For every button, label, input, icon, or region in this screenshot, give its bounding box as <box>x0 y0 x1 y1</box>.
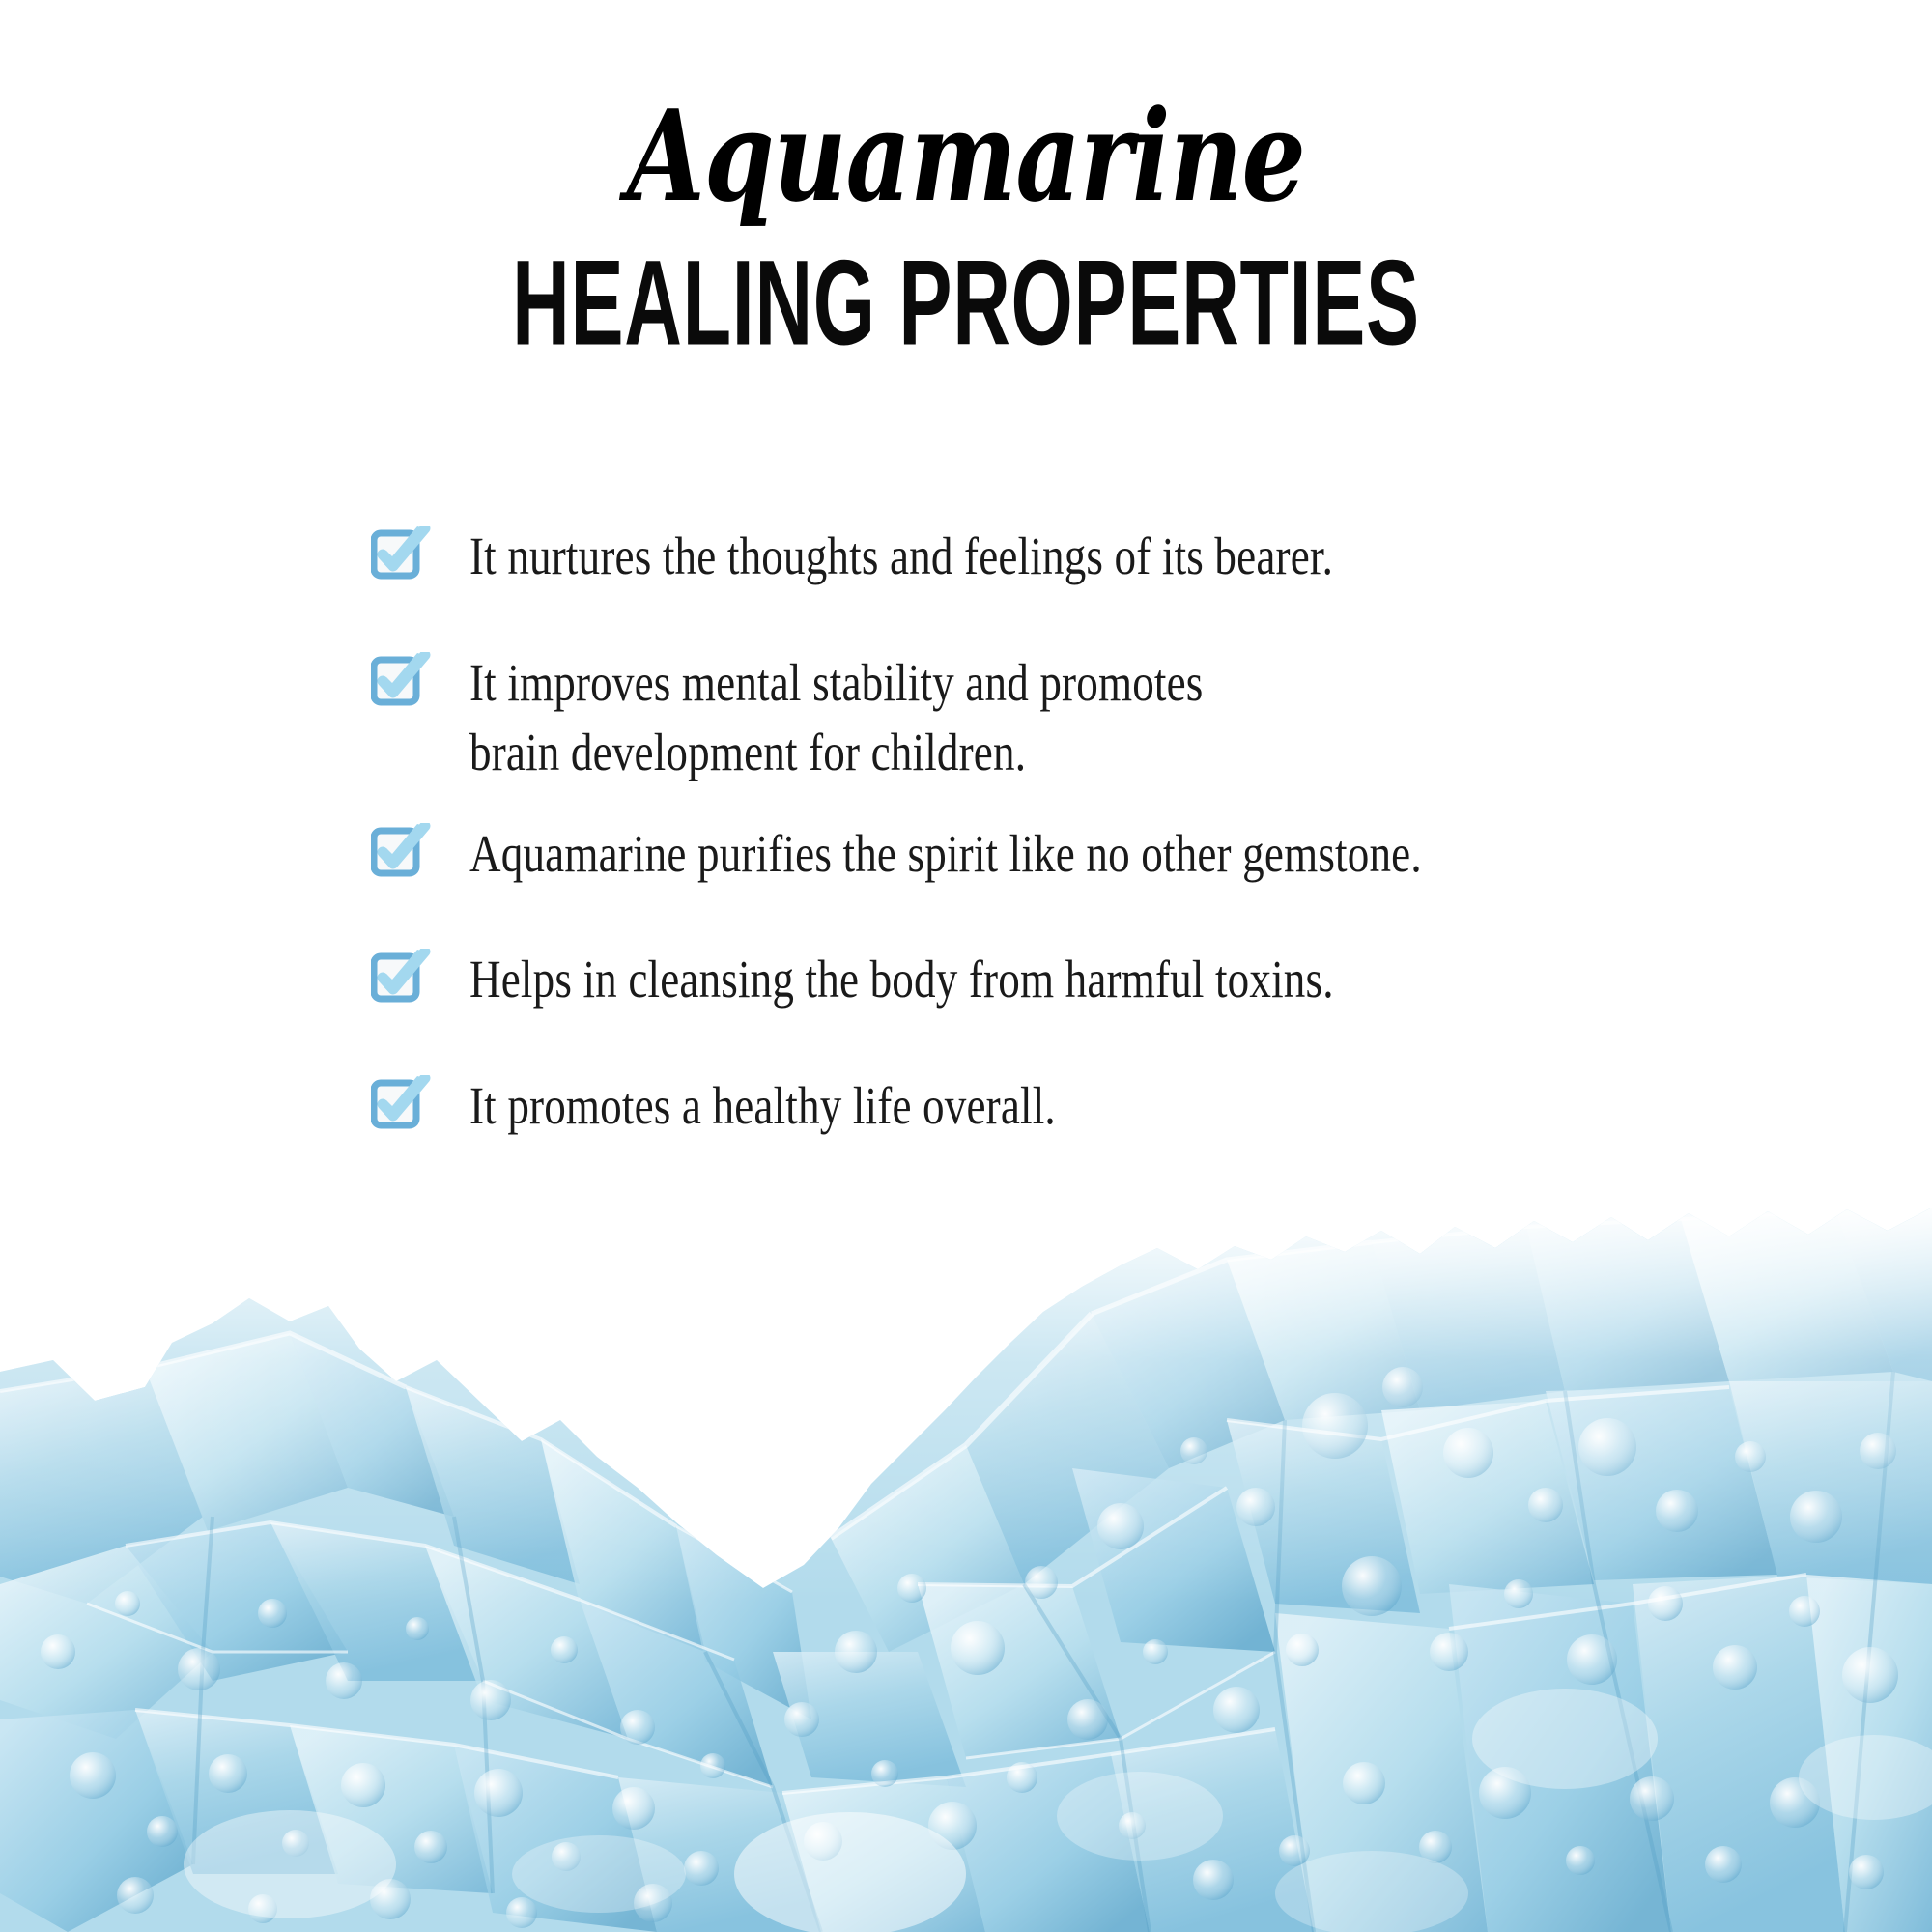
list-item-label: It promotes a healthy life overall. <box>469 1071 1056 1142</box>
list-item: Aquamarine purifies the spirit like no o… <box>371 819 1752 890</box>
poster-canvas: Aquamarine HEALING PROPERTIES It nurture… <box>0 0 1932 1932</box>
list-item: It improves mental stability and promote… <box>371 648 1752 788</box>
list-item: It nurtures the thoughts and feelings of… <box>371 522 1752 592</box>
list-item: It promotes a healthy life overall. <box>371 1071 1752 1142</box>
checked-checkbox-icon <box>371 949 431 1005</box>
heading-block: Aquamarine HEALING PROPERTIES <box>0 93 1932 360</box>
healing-properties-list: It nurtures the thoughts and feelings of… <box>371 522 1752 1198</box>
list-item-label: It improves mental stability and promote… <box>469 648 1204 788</box>
page-subtitle: HEALING PROPERTIES <box>290 242 1642 363</box>
checked-checkbox-icon <box>371 526 431 582</box>
ice-cubes-photo <box>0 1198 1932 1932</box>
checked-checkbox-icon <box>371 823 431 879</box>
list-item-label: Helps in cleansing the body from harmful… <box>469 945 1334 1015</box>
checked-checkbox-icon <box>371 652 431 708</box>
list-item-label: Aquamarine purifies the spirit like no o… <box>469 819 1422 890</box>
page-title: Aquamarine <box>193 93 1739 221</box>
list-item-label: It nurtures the thoughts and feelings of… <box>469 522 1333 592</box>
list-item: Helps in cleansing the body from harmful… <box>371 945 1752 1015</box>
checked-checkbox-icon <box>371 1075 431 1131</box>
